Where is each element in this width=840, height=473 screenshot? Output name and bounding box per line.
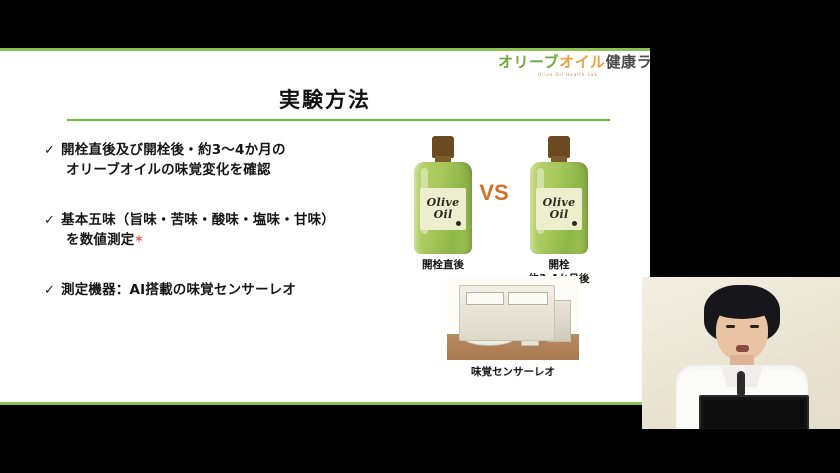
bottle-label: Olive Oil [420, 188, 466, 230]
brand-logo-subtitle: Olive Oil Health Lab [498, 73, 638, 77]
bottle-label-line-2: Oil [550, 209, 569, 221]
bullet-line-1: 基本五味（旨味・苦味・酸味・塩味・甘味） [61, 212, 335, 228]
footnote-asterisk: ＊ [135, 235, 144, 245]
presenter-eye-left [726, 325, 735, 328]
presenter-eye-right [750, 325, 759, 328]
olive-oil-bottle-left: Olive Oil [414, 136, 472, 256]
slide-title: 実験方法 [0, 84, 650, 114]
laptop-screen [704, 400, 804, 428]
screen-root: オリーブオイル健康ラボ Olive Oil Health Lab 実験方法 ✓ … [0, 0, 840, 473]
presentation-slide: オリーブオイル健康ラボ Olive Oil Health Lab 実験方法 ✓ … [0, 48, 650, 405]
checkmark-icon: ✓ [44, 280, 61, 300]
bullet-line-2: オリーブオイルの味覚変化を確認 [61, 160, 286, 180]
olive-dot-icon [456, 221, 461, 226]
slide-bottom-rule [0, 402, 650, 405]
bottle-caption-right-line-1: 開栓 [499, 258, 619, 272]
brand-logo-part-green: オリーブ [498, 53, 559, 71]
bullet-item: ✓ 基本五味（旨味・苦味・酸味・塩味・甘味） を数値測定＊ [44, 210, 414, 250]
sensor-slot-left [466, 292, 504, 305]
slide-top-rule [0, 48, 650, 51]
bottle-body: Olive Oil [414, 162, 472, 254]
bottle-caption-left-line-1: 開栓直後 [383, 258, 503, 272]
vs-label: VS [472, 180, 516, 206]
title-underline [67, 119, 610, 121]
bullet-line-2: を数値測定＊ [61, 230, 335, 250]
brand-logo-part-dark: 健康ラボ [606, 53, 650, 71]
bottle-label-line-2: Oil [434, 209, 453, 221]
taste-sensor-caption: 味覚センサーレオ [431, 364, 595, 379]
bottle-cap-icon [432, 136, 454, 158]
olive-dot-icon [572, 221, 577, 226]
bottle-cap-icon [548, 136, 570, 158]
bullet-item: ✓ 開栓直後及び開栓後・約3〜4か月の オリーブオイルの味覚変化を確認 [44, 140, 414, 180]
presenter-microphone-icon [737, 371, 745, 397]
bottle-label: Olive Oil [536, 188, 582, 230]
brand-logo-part-orange: オイル [559, 53, 606, 71]
checkmark-icon: ✓ [44, 210, 61, 230]
bottle-caption-left: 開栓直後 [383, 258, 503, 272]
olive-oil-bottle-right: Olive Oil [530, 136, 588, 256]
bottle-comparison: Olive Oil VS Olive Oil [398, 136, 626, 276]
bullet-text: 測定機器：AI搭載の味覚センサーレオ [61, 280, 296, 300]
presenter-laptop [699, 395, 809, 429]
brand-logo-wordmark: オリーブオイル健康ラボ [498, 55, 638, 70]
bullet-line-1: 開栓直後及び開栓後・約3〜4か月の [61, 142, 286, 158]
presenter-mouth [736, 345, 749, 352]
bottle-body: Olive Oil [530, 162, 588, 254]
sensor-main-body [459, 285, 555, 341]
checkmark-icon: ✓ [44, 140, 61, 160]
bullet-text: 開栓直後及び開栓後・約3〜4か月の オリーブオイルの味覚変化を確認 [61, 140, 286, 180]
presenter-video-panel[interactable] [642, 277, 840, 429]
brand-logo: オリーブオイル健康ラボ Olive Oil Health Lab [498, 55, 638, 77]
bullet-list: ✓ 開栓直後及び開栓後・約3〜4か月の オリーブオイルの味覚変化を確認 ✓ 基本… [44, 140, 414, 330]
bullet-line-1: 測定機器：AI搭載の味覚センサーレオ [61, 282, 296, 298]
taste-sensor-figure: 味覚センサーレオ [447, 276, 579, 380]
bullet-line-2-text: を数値測定 [66, 232, 135, 248]
taste-sensor-photo [447, 276, 579, 360]
bullet-item: ✓ 測定機器：AI搭載の味覚センサーレオ [44, 280, 414, 300]
bullet-text: 基本五味（旨味・苦味・酸味・塩味・甘味） を数値測定＊ [61, 210, 335, 250]
sensor-slot-right [508, 292, 548, 305]
presenter-hair-front [708, 291, 776, 319]
